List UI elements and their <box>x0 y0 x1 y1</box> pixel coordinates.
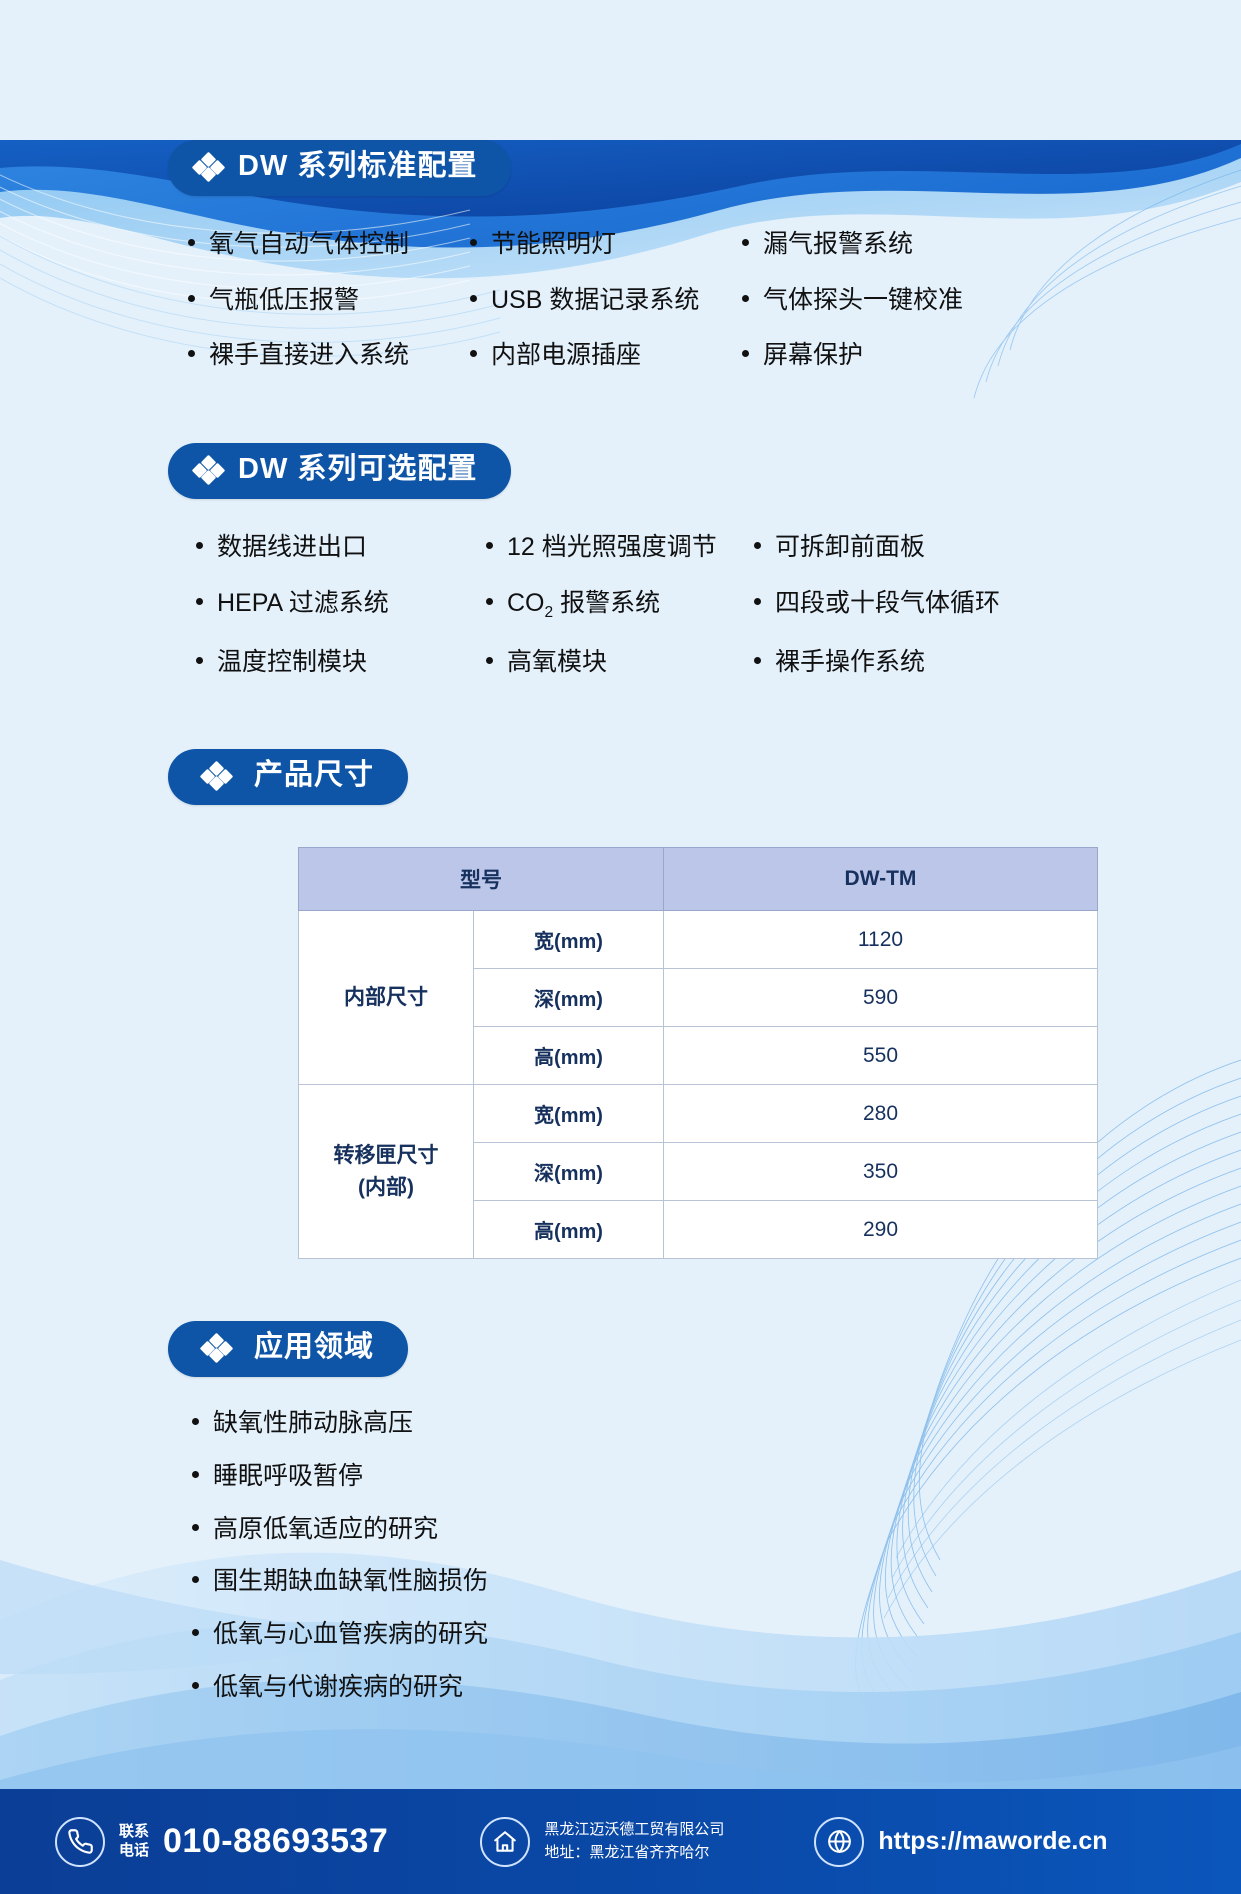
feature-item: 温度控制模块 <box>196 646 486 680</box>
table-row: 内部尺寸 宽(mm) 1120 <box>299 911 1098 969</box>
feature-item: USB 数据记录系统 <box>470 284 742 318</box>
bullet-icon <box>742 350 749 357</box>
feature-item: 高氧模块 <box>486 646 754 680</box>
table-header-row: 型号 DW-TM <box>299 848 1098 911</box>
badge-applications: 应用领域 <box>168 1321 408 1377</box>
feature-item: CO2 报警系统 <box>486 587 754 624</box>
feature-item: 气体探头一键校准 <box>742 284 1241 318</box>
bullet-icon <box>188 295 195 302</box>
footer-contact-bar: 联系 电话 010-88693537 黑龙江迈沃德工贸有限公司 地址：黑龙江省齐… <box>0 1789 1241 1894</box>
metric-value: 590 <box>664 969 1098 1027</box>
footer-website-url[interactable]: https://maworde.cn <box>878 1827 1107 1856</box>
feature-item: 漏气报警系统 <box>742 228 1241 262</box>
globe-icon <box>814 1817 864 1867</box>
table-header-model: 型号 <box>299 848 664 911</box>
metric-value: 1120 <box>664 911 1098 969</box>
diamond-cluster-icon <box>202 763 232 789</box>
bullet-icon <box>192 1629 199 1636</box>
footer-address-text: 黑龙江迈沃德工贸有限公司 地址：黑龙江省齐齐哈尔 <box>544 1819 724 1864</box>
metric-label: 高(mm) <box>474 1201 664 1259</box>
feature-item: 可拆卸前面板 <box>754 531 1241 565</box>
feature-item: 12 档光照强度调节 <box>486 531 754 565</box>
table-header-dwtm: DW-TM <box>664 848 1098 911</box>
feature-item: 裸手直接进入系统 <box>188 339 470 373</box>
footer-phone-label: 联系 电话 <box>119 1823 149 1861</box>
feature-item: 内部电源插座 <box>470 339 742 373</box>
metric-label: 高(mm) <box>474 1027 664 1085</box>
feature-item: HEPA 过滤系统 <box>196 587 486 624</box>
feature-grid-standard: 氧气自动气体控制 节能照明灯 漏气报警系统 气瓶低压报警 USB 数据记录系统 … <box>188 228 1241 373</box>
feature-item: 四段或十段气体循环 <box>754 587 1241 624</box>
bullet-icon <box>192 1682 199 1689</box>
bullet-icon <box>192 1576 199 1583</box>
bullet-icon <box>196 598 203 605</box>
bullet-icon <box>742 239 749 246</box>
row-label-transfer-box-size: 转移匣尺寸 (内部) <box>299 1085 474 1259</box>
bullet-icon <box>470 239 477 246</box>
metric-value: 280 <box>664 1085 1098 1143</box>
brochure-page: DW 系列标准配置 氧气自动气体控制 节能照明灯 漏气报警系统 气瓶低压报警 U… <box>0 140 1241 1705</box>
badge-optional-configuration: DW 系列可选配置 <box>168 443 511 499</box>
section-title-standard: DW 系列标准配置 <box>238 151 477 183</box>
bullet-icon <box>742 295 749 302</box>
metric-value: 550 <box>664 1027 1098 1085</box>
feature-item: 气瓶低压报警 <box>188 284 470 318</box>
diamond-cluster-icon <box>194 457 224 483</box>
bullet-icon <box>470 350 477 357</box>
list-item: 缺氧性肺动脉高压 <box>192 1407 1241 1441</box>
dimensions-table: 型号 DW-TM 内部尺寸 宽(mm) 1120 深(mm) 590 <box>298 847 1098 1259</box>
list-item: 高原低氧适应的研究 <box>192 1513 1241 1547</box>
bullet-icon <box>754 598 761 605</box>
diamond-cluster-icon <box>202 1335 232 1361</box>
metric-label: 深(mm) <box>474 1143 664 1201</box>
bullet-icon <box>486 542 493 549</box>
section-product-dimensions: 产品尺寸 型号 DW-TM 内部尺寸 宽(mm) 1120 <box>168 749 1241 1259</box>
bullet-icon <box>754 657 761 664</box>
bullet-icon <box>754 542 761 549</box>
bullet-icon <box>470 295 477 302</box>
section-title-applications: 应用领域 <box>254 1332 374 1364</box>
section-title-optional: DW 系列可选配置 <box>238 454 477 486</box>
metric-label: 宽(mm) <box>474 1085 664 1143</box>
section-optional-configuration: DW 系列可选配置 数据线进出口 12 档光照强度调节 可拆卸前面板 HEPA … <box>168 443 1241 679</box>
row-label-internal-size: 内部尺寸 <box>299 911 474 1085</box>
section-title-dimensions: 产品尺寸 <box>254 760 374 792</box>
metric-value: 350 <box>664 1143 1098 1201</box>
application-list: 缺氧性肺动脉高压 睡眠呼吸暂停 高原低氧适应的研究 围生期缺血缺氧性脑损伤 低氧… <box>192 1407 1241 1705</box>
bullet-icon <box>192 1524 199 1531</box>
bullet-icon <box>192 1418 199 1425</box>
feature-item: 裸手操作系统 <box>754 646 1241 680</box>
list-item: 低氧与代谢疾病的研究 <box>192 1671 1241 1705</box>
home-icon <box>480 1817 530 1867</box>
feature-item: 屏幕保护 <box>742 339 1241 373</box>
list-item: 围生期缺血缺氧性脑损伤 <box>192 1565 1241 1599</box>
section-applications: 应用领域 缺氧性肺动脉高压 睡眠呼吸暂停 高原低氧适应的研究 围生期缺血缺氧性脑… <box>168 1321 1241 1704</box>
section-standard-configuration: DW 系列标准配置 氧气自动气体控制 节能照明灯 漏气报警系统 气瓶低压报警 U… <box>168 140 1241 373</box>
list-item: 低氧与心血管疾病的研究 <box>192 1618 1241 1652</box>
bullet-icon <box>486 598 493 605</box>
feature-item: 数据线进出口 <box>196 531 486 565</box>
footer-address-block: 黑龙江迈沃德工贸有限公司 地址：黑龙江省齐齐哈尔 <box>480 1817 724 1867</box>
metric-value: 290 <box>664 1201 1098 1259</box>
table-row: 转移匣尺寸 (内部) 宽(mm) 280 <box>299 1085 1098 1143</box>
bullet-icon <box>188 350 195 357</box>
bullet-icon <box>196 542 203 549</box>
badge-product-dimensions: 产品尺寸 <box>168 749 408 805</box>
list-item: 睡眠呼吸暂停 <box>192 1460 1241 1494</box>
phone-icon <box>55 1817 105 1867</box>
bullet-icon <box>486 657 493 664</box>
metric-label: 宽(mm) <box>474 911 664 969</box>
bullet-icon <box>192 1471 199 1478</box>
dimensions-table-wrapper: 型号 DW-TM 内部尺寸 宽(mm) 1120 深(mm) 590 <box>298 847 1098 1259</box>
feature-item: 节能照明灯 <box>470 228 742 262</box>
footer-website-block[interactable]: https://maworde.cn <box>814 1817 1107 1867</box>
bullet-icon <box>188 239 195 246</box>
bullet-icon <box>196 657 203 664</box>
feature-item: 氧气自动气体控制 <box>188 228 470 262</box>
diamond-cluster-icon <box>194 154 224 180</box>
feature-grid-optional: 数据线进出口 12 档光照强度调节 可拆卸前面板 HEPA 过滤系统 CO2 报… <box>196 531 1241 679</box>
badge-standard-configuration: DW 系列标准配置 <box>168 140 511 196</box>
footer-phone-number[interactable]: 010-88693537 <box>163 1822 388 1861</box>
metric-label: 深(mm) <box>474 969 664 1027</box>
footer-phone-block[interactable]: 联系 电话 010-88693537 <box>55 1817 388 1867</box>
